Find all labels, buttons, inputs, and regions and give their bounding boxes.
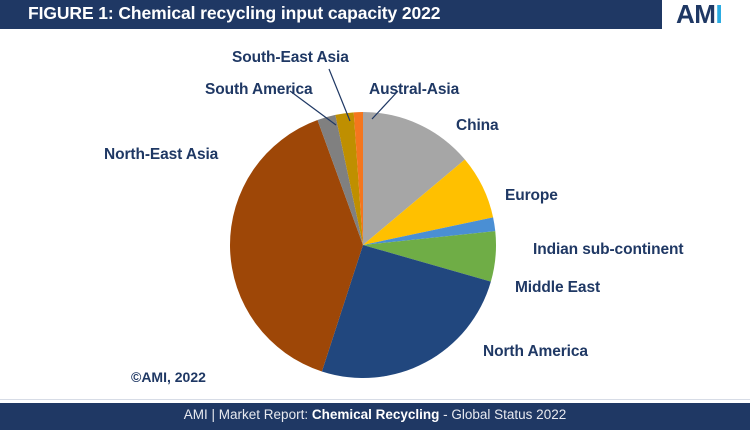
slice-label-china: China	[456, 117, 499, 135]
page-title: FIGURE 1: Chemical recycling input capac…	[28, 3, 440, 24]
ami-logo: AMI	[676, 0, 722, 29]
logo-text-i: I	[715, 0, 722, 29]
copyright-notice: ©AMI, 2022	[131, 369, 206, 385]
slice-label-middle-east: Middle East	[515, 279, 600, 297]
footer-divider	[0, 399, 750, 400]
footer-suffix: - Global Status 2022	[439, 407, 566, 422]
figure-container: FIGURE 1: Chemical recycling input capac…	[0, 0, 750, 430]
footer-prefix: AMI | Market Report:	[184, 407, 312, 422]
slice-label-austral-asia: Austral-Asia	[369, 81, 459, 99]
slice-label-north-east-asia: North-East Asia	[104, 146, 218, 164]
pie-slice-group	[230, 112, 496, 378]
logo-text-am: AM	[676, 0, 715, 29]
slice-label-north-america: North America	[483, 343, 588, 361]
slice-label-indian-sub-continent: Indian sub-continent	[533, 241, 683, 259]
slice-label-south-america: South America	[205, 81, 313, 99]
footer-caption: AMI | Market Report: Chemical Recycling …	[0, 407, 750, 422]
chart-plot-area: South-East Asia South America Austral-As…	[0, 29, 750, 399]
footer-report-name: Chemical Recycling	[312, 407, 440, 422]
slice-label-europe: Europe	[505, 187, 558, 205]
slice-label-south-east-asia: South-East Asia	[232, 49, 349, 67]
leader-line-south-east-asia	[329, 69, 350, 121]
